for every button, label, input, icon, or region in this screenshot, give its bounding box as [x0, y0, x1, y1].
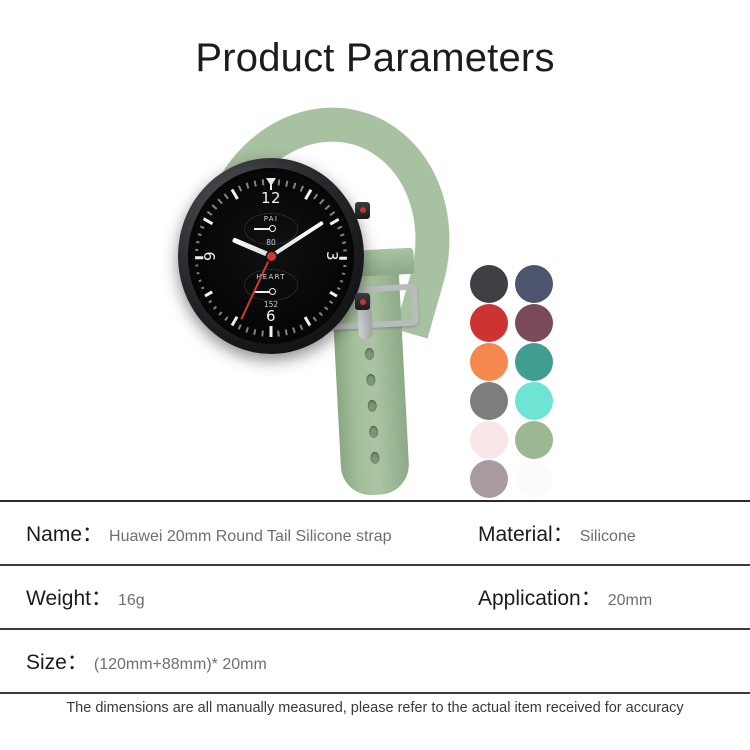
spec-cell-material: Material： Silicone	[478, 518, 636, 548]
watch-tick-minor	[207, 211, 213, 216]
watch-tick-minor	[340, 280, 346, 283]
watch-tick-minor	[195, 241, 200, 244]
watch-tick-major	[304, 316, 312, 327]
spec-value: (120mm+88mm)* 20mm	[94, 656, 267, 674]
strap-hole	[367, 400, 377, 412]
spec-label: Name：	[26, 518, 103, 548]
watch-tick-minor	[337, 287, 343, 291]
color-swatch-mauve[interactable]	[470, 460, 508, 498]
watch-tick-minor	[337, 225, 343, 229]
watch-tick-minor	[224, 317, 229, 323]
watch-numeral-6: 6	[266, 307, 276, 325]
spec-label: Weight：	[26, 582, 112, 612]
watch-tick-minor	[246, 327, 249, 333]
heart-subdial-value: 152	[264, 300, 278, 309]
color-swatch-plum[interactable]	[515, 304, 553, 342]
watch-numeral-12: 12	[261, 189, 281, 207]
watch-tick-minor	[238, 186, 242, 192]
table-row: Name： Huawei 20mm Round Tail Silicone st…	[0, 502, 750, 566]
watch-tick-minor	[313, 194, 318, 200]
color-swatch-off-white[interactable]	[515, 460, 553, 498]
watch-tick-minor	[325, 306, 330, 311]
watch-tick-minor	[300, 324, 304, 330]
spec-cell-application: Application： 20mm	[478, 582, 652, 612]
watch-tick-major	[304, 189, 312, 200]
strap-hole	[364, 348, 374, 360]
watch-tick-minor	[342, 241, 347, 244]
spec-cell-weight: Weight： 16g	[26, 582, 145, 612]
watch-tick-minor	[293, 183, 296, 189]
specification-table: Name： Huawei 20mm Round Tail Silicone st…	[0, 500, 750, 694]
watch-tick-minor	[218, 199, 223, 204]
watch-tick-major	[230, 316, 238, 327]
watch-tick-minor	[278, 331, 280, 337]
watch-tick-minor	[300, 186, 304, 192]
watch-tick-minor	[344, 265, 347, 267]
watch-tick-minor	[254, 181, 257, 187]
spec-value: 20mm	[608, 592, 652, 610]
watch-tick-minor	[196, 280, 202, 283]
watch-tick-major	[202, 217, 213, 225]
watch-tick-minor	[319, 312, 324, 317]
twelve-oclock-marker	[266, 178, 276, 186]
color-swatch-grid[interactable]	[470, 265, 558, 499]
watch-tick-minor	[207, 300, 213, 305]
watch-tick-minor	[293, 327, 296, 333]
spec-cell-name: Name： Huawei 20mm Round Tail Silicone st…	[26, 518, 392, 548]
watch-tick-major	[230, 189, 238, 200]
crown-accent-bottom	[360, 299, 366, 305]
watch-face: 12 3 6 9 PAI 80 HEART 152	[195, 175, 347, 337]
color-swatch-pale-pink[interactable]	[470, 421, 508, 459]
table-row: Size： (120mm+88mm)* 20mm	[0, 630, 750, 694]
color-swatch-navy-slate[interactable]	[515, 265, 553, 303]
spec-label: Application：	[478, 582, 602, 612]
watch-tick-minor	[285, 181, 288, 187]
heart-subdial-pin	[269, 288, 276, 295]
spec-value: Huawei 20mm Round Tail Silicone strap	[109, 528, 392, 546]
spec-label: Size：	[26, 646, 88, 676]
strap-hole	[370, 452, 380, 464]
watch-tick-minor	[325, 205, 330, 210]
watch-bezel: 12 3 6 9 PAI 80 HEART 152	[188, 168, 354, 344]
pai-subdial-value: 80	[266, 238, 276, 247]
spec-value: Silicone	[580, 528, 636, 546]
watch-tick-minor	[262, 179, 264, 185]
color-swatch-gray[interactable]	[470, 382, 508, 420]
watch-case: 12 3 6 9 PAI 80 HEART 152	[178, 158, 364, 354]
measurement-disclaimer: The dimensions are all manually measured…	[0, 700, 750, 716]
page-title: Product Parameters	[0, 36, 750, 81]
watch-tick-minor	[285, 329, 288, 335]
watch-tick-major	[270, 326, 273, 337]
watch-tick-minor	[262, 331, 264, 337]
watch-tick-minor	[218, 312, 223, 317]
watch-numeral-9: 9	[201, 251, 219, 261]
watch-tick-minor	[344, 249, 347, 251]
crown-accent-top	[360, 207, 366, 213]
color-swatch-teal[interactable]	[515, 343, 553, 381]
watch-tick-minor	[195, 272, 200, 275]
color-swatch-red[interactable]	[470, 304, 508, 342]
spec-label: Material：	[478, 518, 574, 548]
watch-tick-minor	[238, 324, 242, 330]
watch-tick-minor	[199, 287, 205, 291]
pai-subdial-label: PAI	[264, 215, 279, 223]
hands-center-cap	[267, 252, 276, 261]
watch-tick-minor	[212, 306, 217, 311]
watch-product-photo: 12 3 6 9 PAI 80 HEART 152	[150, 100, 480, 495]
watch-tick-minor	[278, 179, 280, 185]
table-row: Weight： 16g Application： 20mm	[0, 566, 750, 630]
watch-tick-minor	[340, 233, 346, 236]
watch-tick-minor	[199, 225, 205, 229]
watch-tick-minor	[330, 300, 336, 305]
pai-subdial-pin	[269, 225, 276, 232]
strap-hole	[366, 374, 376, 386]
color-swatch-orange[interactable]	[470, 343, 508, 381]
color-swatch-charcoal[interactable]	[470, 265, 508, 303]
watch-tick-minor	[246, 183, 249, 189]
watch-tick-minor	[195, 265, 198, 267]
watch-tick-minor	[196, 233, 202, 236]
watch-tick-minor	[254, 329, 257, 335]
spec-value: 16g	[118, 592, 145, 610]
watch-numeral-3: 3	[323, 251, 341, 261]
color-swatch-turquoise[interactable]	[515, 382, 553, 420]
watch-tick-minor	[224, 194, 229, 200]
product-image-area: 12 3 6 9 PAI 80 HEART 152	[0, 100, 750, 495]
spec-cell-size: Size： (120mm+88mm)* 20mm	[26, 646, 267, 676]
watch-tick-major	[329, 217, 340, 225]
watch-tick-minor	[342, 272, 347, 275]
watch-tick-minor	[212, 205, 217, 210]
watch-tick-minor	[313, 317, 318, 323]
watch-tick-major	[329, 291, 340, 299]
watch-tick-minor	[319, 199, 324, 204]
watch-tick-major	[202, 291, 213, 299]
watch-tick-minor	[195, 249, 198, 251]
strap-hole	[368, 426, 378, 438]
watch-tick-minor	[330, 211, 336, 216]
color-swatch-sage-green[interactable]	[515, 421, 553, 459]
